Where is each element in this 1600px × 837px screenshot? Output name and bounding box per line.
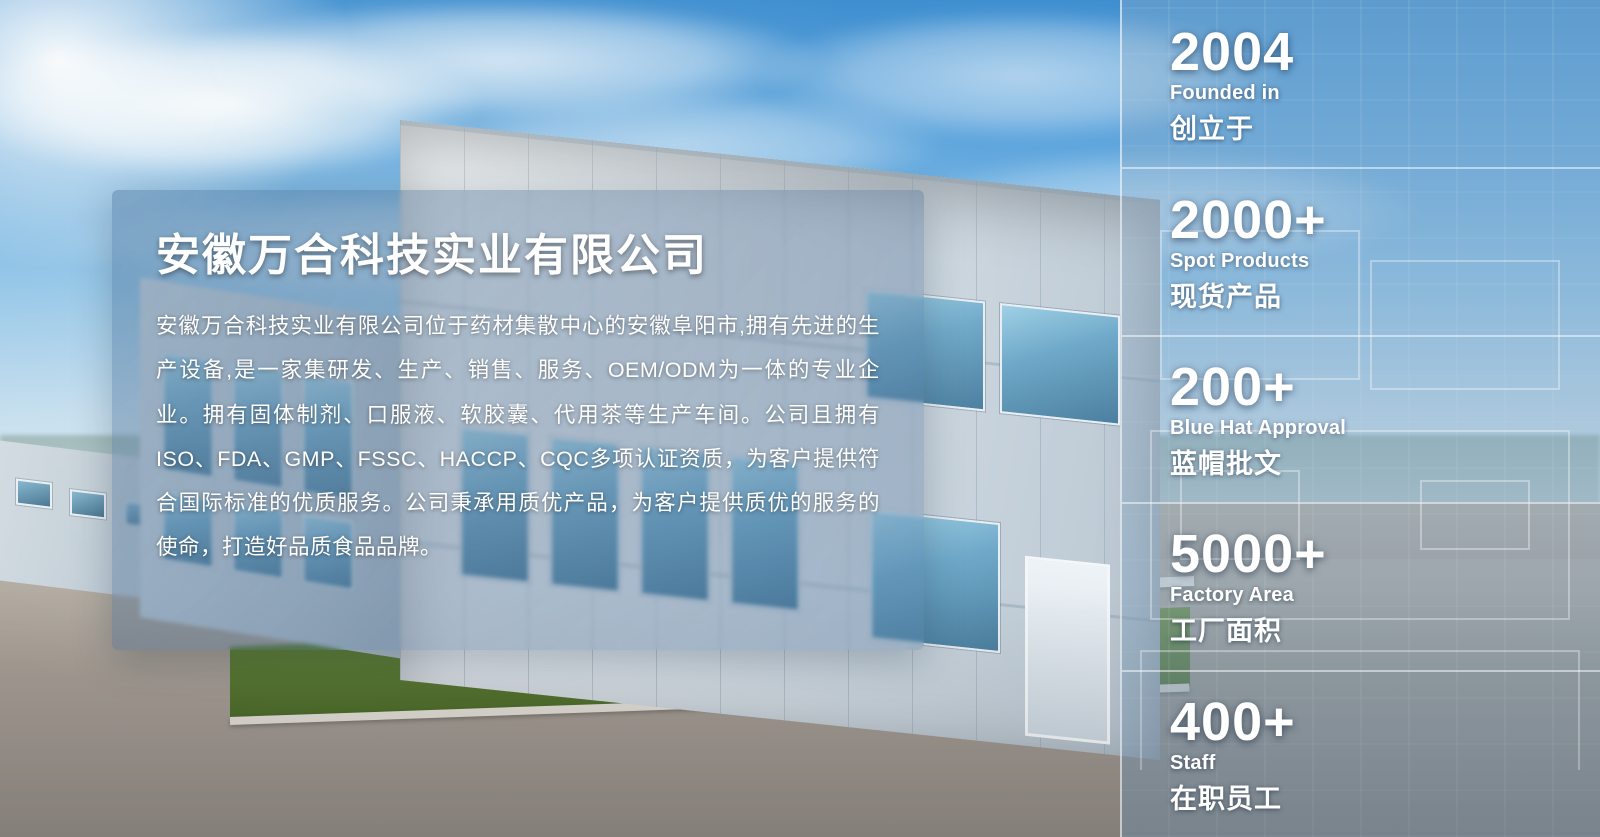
stat-label-en: Blue Hat Approval bbox=[1170, 417, 1600, 440]
stat-label-cn: 在职员工 bbox=[1170, 777, 1600, 816]
stats-panel: 2004 Founded in 创立于 2000+ Spot Products … bbox=[1120, 0, 1600, 837]
stat-number: 2004 bbox=[1170, 25, 1600, 80]
stat-label-en: Factory Area bbox=[1170, 584, 1600, 607]
stat-item-blue-hat-approval: 200+ Blue Hat Approval 蓝帽批文 bbox=[1122, 335, 1600, 502]
stat-label-cn: 蓝帽批文 bbox=[1170, 442, 1600, 481]
stat-item-factory-area: 5000+ Factory Area 工厂面积 bbox=[1122, 502, 1600, 669]
stat-item-spot-products: 2000+ Spot Products 现货产品 bbox=[1122, 167, 1600, 334]
stat-number: 400+ bbox=[1170, 695, 1600, 750]
page-title: 安徽万合科技实业有限公司 bbox=[156, 232, 880, 280]
stat-label-cn: 创立于 bbox=[1170, 107, 1600, 146]
stat-number: 200+ bbox=[1170, 360, 1600, 415]
stat-number: 2000+ bbox=[1170, 193, 1600, 248]
stat-label-en: Staff bbox=[1170, 752, 1600, 775]
stat-label-en: Founded in bbox=[1170, 82, 1600, 105]
stat-label-cn: 工厂面积 bbox=[1170, 609, 1600, 648]
stat-label-cn: 现货产品 bbox=[1170, 275, 1600, 314]
stat-item-founded: 2004 Founded in 创立于 bbox=[1122, 0, 1600, 167]
stat-label-en: Spot Products bbox=[1170, 250, 1600, 273]
stat-number: 5000+ bbox=[1170, 527, 1600, 582]
company-description: 安徽万合科技实业有限公司位于药材集散中心的安徽阜阳市,拥有先进的生产设备,是一家… bbox=[156, 304, 880, 568]
company-info-card: 安徽万合科技实业有限公司 安徽万合科技实业有限公司位于药材集散中心的安徽阜阳市,… bbox=[112, 190, 924, 650]
stat-item-staff: 400+ Staff 在职员工 bbox=[1122, 670, 1600, 837]
